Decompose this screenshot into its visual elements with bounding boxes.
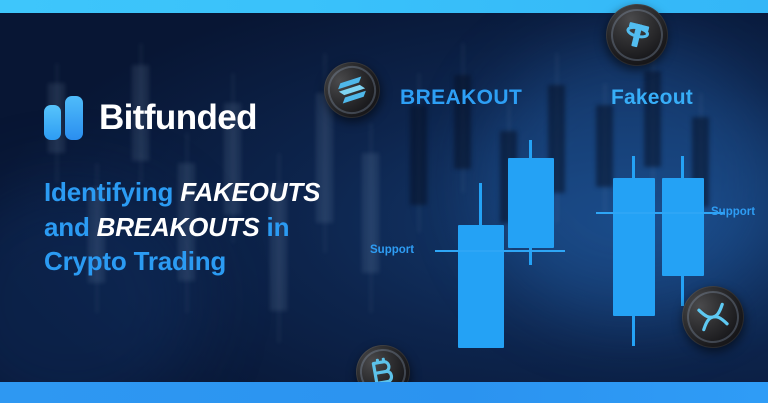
bitfunded-bars-icon	[44, 96, 88, 140]
headline-part-2: and	[44, 212, 97, 242]
promo-banner: BREAKOUT Fakeout Support Support	[0, 0, 768, 403]
headline-part-1: Identifying	[44, 177, 180, 207]
fakeout-support-line	[596, 212, 725, 214]
breakout-support-line	[435, 250, 565, 252]
headline-part-4: Crypto Trading	[44, 246, 226, 276]
brand-logo[interactable]: Bitfunded	[44, 96, 257, 140]
headline-part-3: in	[260, 212, 290, 242]
fakeout-candle-2	[662, 156, 704, 306]
brand-name: Bitfunded	[99, 98, 257, 138]
breakout-candle-1	[458, 183, 504, 348]
breakout-candle-2	[508, 140, 554, 265]
fakeout-candle-1	[613, 156, 655, 346]
fakeout-support-label: Support	[711, 206, 755, 218]
headline: Identifying FAKEOUTS and BREAKOUTS in Cr…	[44, 175, 384, 279]
fakeout-group-label: Fakeout	[611, 86, 693, 110]
headline-breakouts: BREAKOUTS	[97, 212, 260, 242]
headline-fakeouts: FAKEOUTS	[180, 177, 320, 207]
breakout-group-label: BREAKOUT	[400, 86, 522, 110]
bottom-accent-bar	[0, 382, 768, 403]
